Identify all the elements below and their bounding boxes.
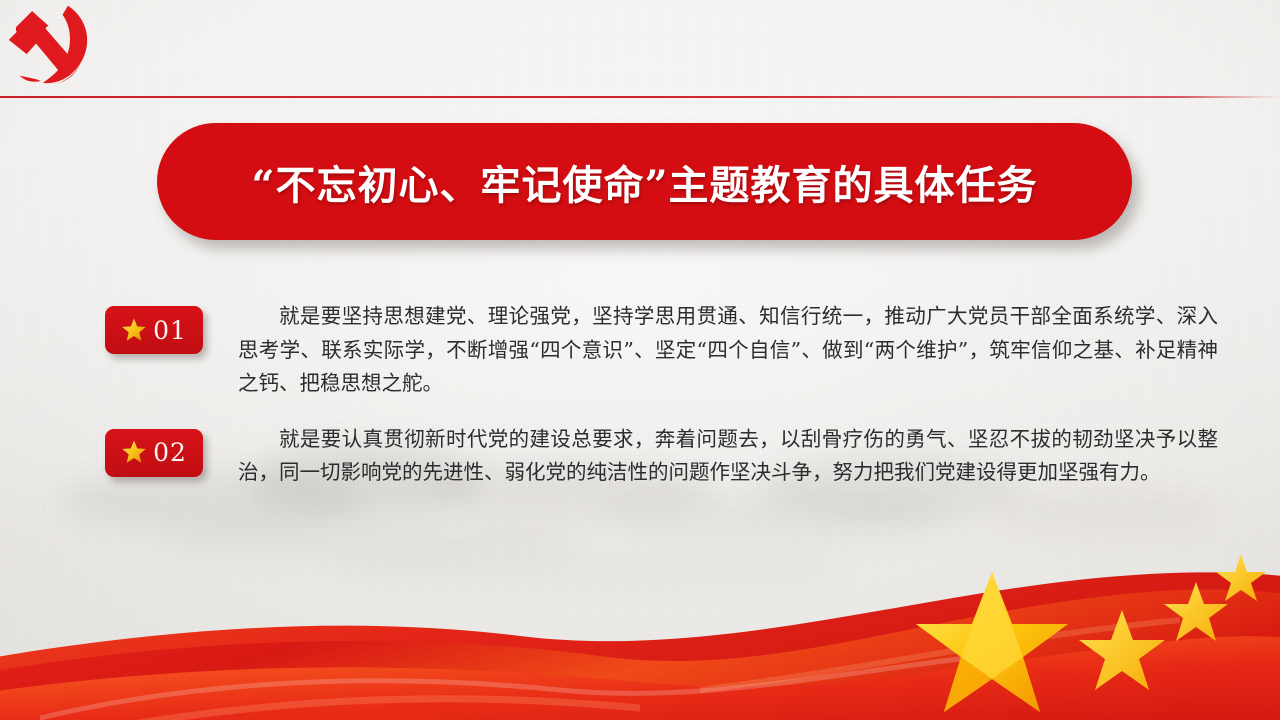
list-item: 02 就是要认真贯彻新时代党的建设总要求，奔着问题去，以刮骨疗伤的勇气、坚忍不拔…	[0, 423, 1280, 490]
item-paragraph: 就是要认真贯彻新时代党的建设总要求，奔着问题去，以刮骨疗伤的勇气、坚忍不拔的韧劲…	[238, 423, 1218, 490]
item-paragraph: 就是要坚持思想建党、理论强党，坚持学思用贯通、知信行统一，推动广大党员干部全面系…	[238, 300, 1218, 401]
item-badge-01[interactable]: 01	[105, 306, 203, 354]
item-number: 01	[153, 316, 187, 345]
title-banner: “不忘初心、牢记使命”主题教育的具体任务	[157, 123, 1132, 240]
header-divider-rule	[0, 96, 1280, 98]
list-item: 01 就是要坚持思想建党、理论强党，坚持学思用贯通、知信行统一，推动广大党员干部…	[0, 300, 1280, 401]
slide-canvas: “不忘初心、牢记使命”主题教育的具体任务 01 就是要坚持思想建党、	[0, 0, 1280, 720]
item-number: 02	[153, 438, 187, 467]
gold-star-icon	[121, 439, 147, 465]
item-badge-02[interactable]: 02	[105, 429, 203, 477]
gold-star-icon	[121, 317, 147, 343]
hammer-sickle-party-emblem-icon	[4, 4, 96, 90]
content-list: 01 就是要坚持思想建党、理论强党，坚持学思用贯通、知信行统一，推动广大党员干部…	[0, 300, 1280, 490]
page-title: “不忘初心、牢记使命”主题教育的具体任务	[251, 153, 1037, 211]
